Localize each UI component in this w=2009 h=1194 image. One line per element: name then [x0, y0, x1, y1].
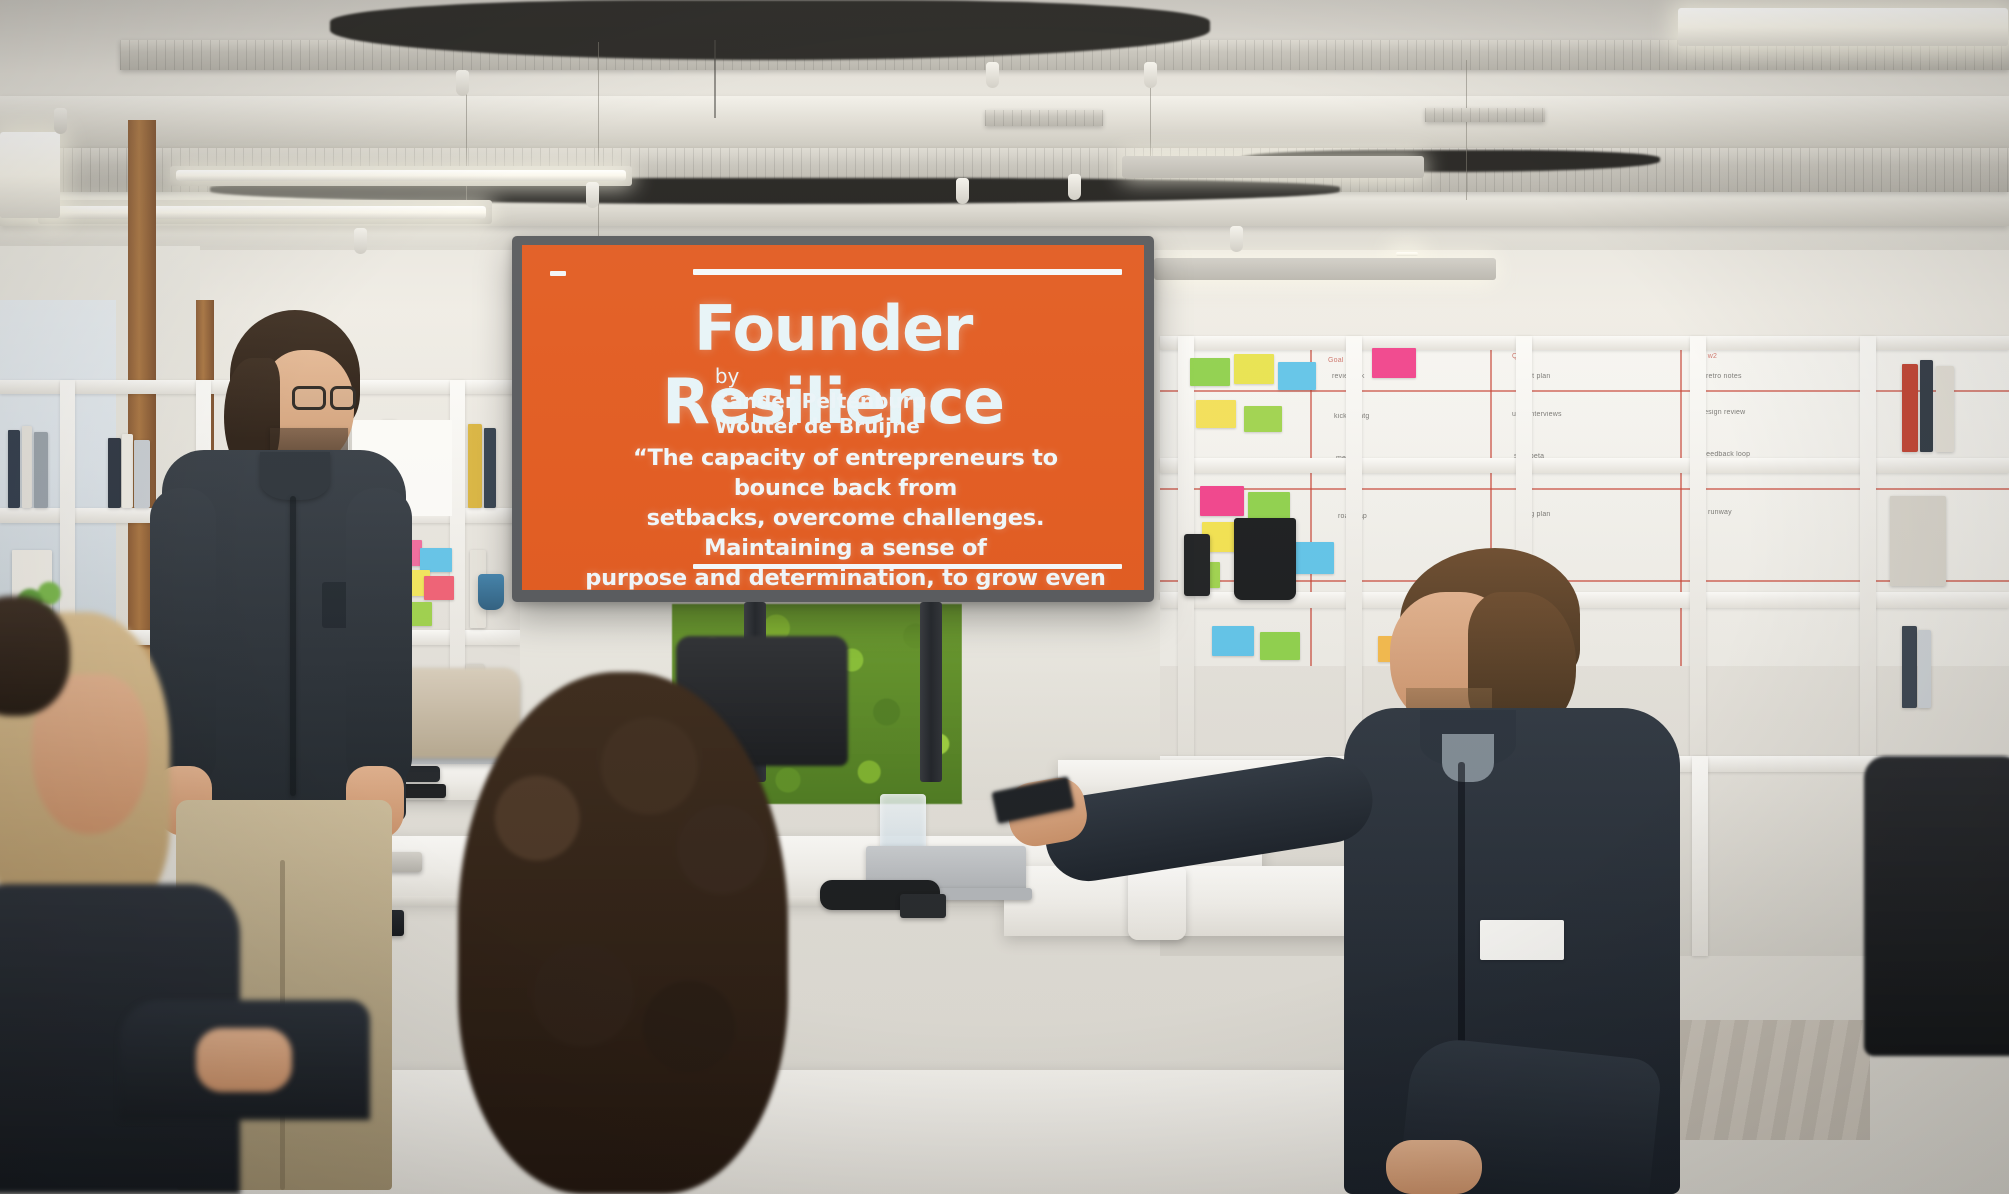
power-adapter	[900, 894, 946, 918]
light-suspension-wire	[1466, 60, 1467, 200]
ceiling-cable-bundle	[330, 0, 1210, 60]
book	[468, 424, 482, 508]
book	[34, 432, 48, 508]
slide-rule-bottom	[693, 564, 1122, 569]
sticky-note	[1190, 358, 1230, 386]
sprinkler-head	[1230, 226, 1243, 252]
audience-hand-foreground	[196, 1028, 292, 1092]
audience-curly-head	[458, 672, 788, 1194]
light-suspension-wire	[598, 42, 599, 238]
tv-screen: Founder Resilience by Sander Peltenburg …	[512, 236, 1154, 602]
glasses	[330, 386, 356, 410]
coffee-mug	[1128, 868, 1186, 940]
black-pouch	[1184, 534, 1210, 596]
book	[108, 438, 121, 508]
presenter-placket	[290, 496, 296, 796]
presenter-collar	[260, 452, 330, 500]
ceiling-light	[1396, 252, 1418, 256]
sprinkler-head	[586, 182, 599, 208]
byline-label: by	[715, 364, 927, 389]
sprinkler-head	[54, 108, 67, 134]
sticky-note	[1278, 362, 1316, 390]
audience-left-hair	[0, 596, 70, 716]
shelf-board	[1160, 336, 2009, 350]
book	[484, 428, 496, 508]
sticky-note	[1244, 406, 1282, 432]
quote-line-3: purpose and determination, to grow even …	[585, 565, 1105, 590]
ceiling-light	[44, 206, 486, 219]
sprinkler-head	[986, 62, 999, 88]
seated-man-hand-lower	[1386, 1140, 1482, 1194]
ceiling-light-housing	[1122, 156, 1424, 178]
tv-stand-column	[920, 602, 942, 782]
sticky-note	[1372, 348, 1416, 378]
sprinkler-head	[956, 178, 969, 204]
sprinkler-head	[354, 228, 367, 254]
ceiling-vent	[1425, 108, 1545, 122]
sticky-note	[1200, 486, 1244, 516]
book	[122, 434, 133, 508]
ceiling-light	[0, 132, 60, 218]
sprinkler-head	[1068, 174, 1081, 200]
book	[22, 426, 32, 508]
hanging-cable	[714, 40, 716, 118]
name-badge	[1480, 920, 1564, 960]
slide-byline: by Sander Peltenburg Wouter de Bruijne	[715, 364, 927, 439]
ceiling-light	[176, 170, 626, 181]
book	[1936, 366, 1954, 452]
ceiling-vent	[985, 110, 1103, 126]
book	[1902, 364, 1918, 452]
presentation-slide: Founder Resilience by Sander Peltenburg …	[522, 245, 1144, 590]
author-name-2: Wouter de Bruijne	[715, 414, 920, 438]
book	[1918, 630, 1931, 708]
presenter-arm-right	[346, 488, 412, 788]
sprinkler-head	[456, 70, 469, 96]
seated-man-inner-tee	[1442, 734, 1494, 782]
sprinkler-head	[1144, 62, 1157, 88]
book	[1920, 360, 1933, 452]
coffee-mug	[478, 574, 504, 610]
ceiling-light-housing	[1154, 258, 1496, 280]
quote-line-2: setbacks, overcome challenges. Maintaini…	[647, 505, 1045, 561]
quote-line-1: “The capacity of entrepreneurs to bounce…	[633, 445, 1058, 501]
author-name-1: Sander Peltenburg	[715, 389, 927, 413]
ceiling-light	[1678, 8, 2008, 46]
slide-rule-top	[693, 269, 1122, 275]
audience-left-edge	[0, 596, 80, 896]
sticky-note	[1234, 354, 1274, 384]
sticky-note	[1196, 400, 1236, 428]
shelf-board	[1160, 458, 2009, 473]
photo-scene: Goal review wk Q w1 sprint plan Q w2 ret…	[0, 0, 2009, 1194]
slide-dash-mark	[550, 271, 566, 276]
book	[8, 430, 20, 508]
seated-man-right	[1230, 548, 1910, 1194]
glasses	[292, 386, 326, 410]
